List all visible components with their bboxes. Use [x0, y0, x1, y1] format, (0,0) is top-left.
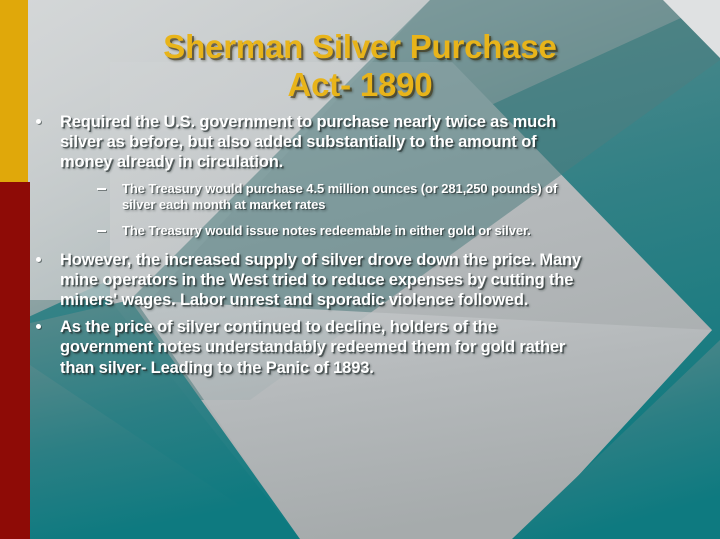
bullet-text: However, the increased supply of silver … — [60, 251, 581, 309]
bullet-text: Required the U.S. government to purchase… — [60, 113, 556, 171]
bullet-dot-icon — [36, 324, 41, 329]
bullet-dash-icon — [97, 230, 106, 232]
bullet-dot-icon — [36, 119, 41, 124]
bullet-dash-icon — [97, 188, 106, 190]
slide-title-line-2: Act- 1890 — [60, 66, 660, 104]
list-item: The Treasury would issue notes redeemabl… — [92, 223, 590, 239]
sub-bullet-wrap: The Treasury would purchase 4.5 million … — [60, 181, 590, 239]
list-item: However, the increased supply of silver … — [30, 250, 590, 310]
slide-title-line-1: Sherman Silver Purchase — [60, 28, 660, 66]
bullet-dot-icon — [36, 257, 41, 262]
slide-content: Sherman Silver Purchase Act- 1890 Requir… — [0, 0, 720, 539]
slide-body: Required the U.S. government to purchase… — [30, 112, 590, 385]
presentation-slide: Sherman Silver Purchase Act- 1890 Requir… — [0, 0, 720, 539]
list-item: Required the U.S. government to purchase… — [30, 112, 590, 239]
sub-bullet-text: The Treasury would purchase 4.5 million … — [122, 181, 557, 212]
sub-bullet-list: The Treasury would purchase 4.5 million … — [92, 181, 590, 239]
bullet-text: As the price of silver continued to decl… — [60, 318, 565, 376]
list-item: As the price of silver continued to decl… — [30, 317, 590, 377]
list-item: The Treasury would purchase 4.5 million … — [92, 181, 590, 213]
bullet-list: Required the U.S. government to purchase… — [30, 112, 590, 378]
sub-bullet-text: The Treasury would issue notes redeemabl… — [122, 223, 531, 238]
slide-title: Sherman Silver Purchase Act- 1890 — [60, 28, 660, 103]
